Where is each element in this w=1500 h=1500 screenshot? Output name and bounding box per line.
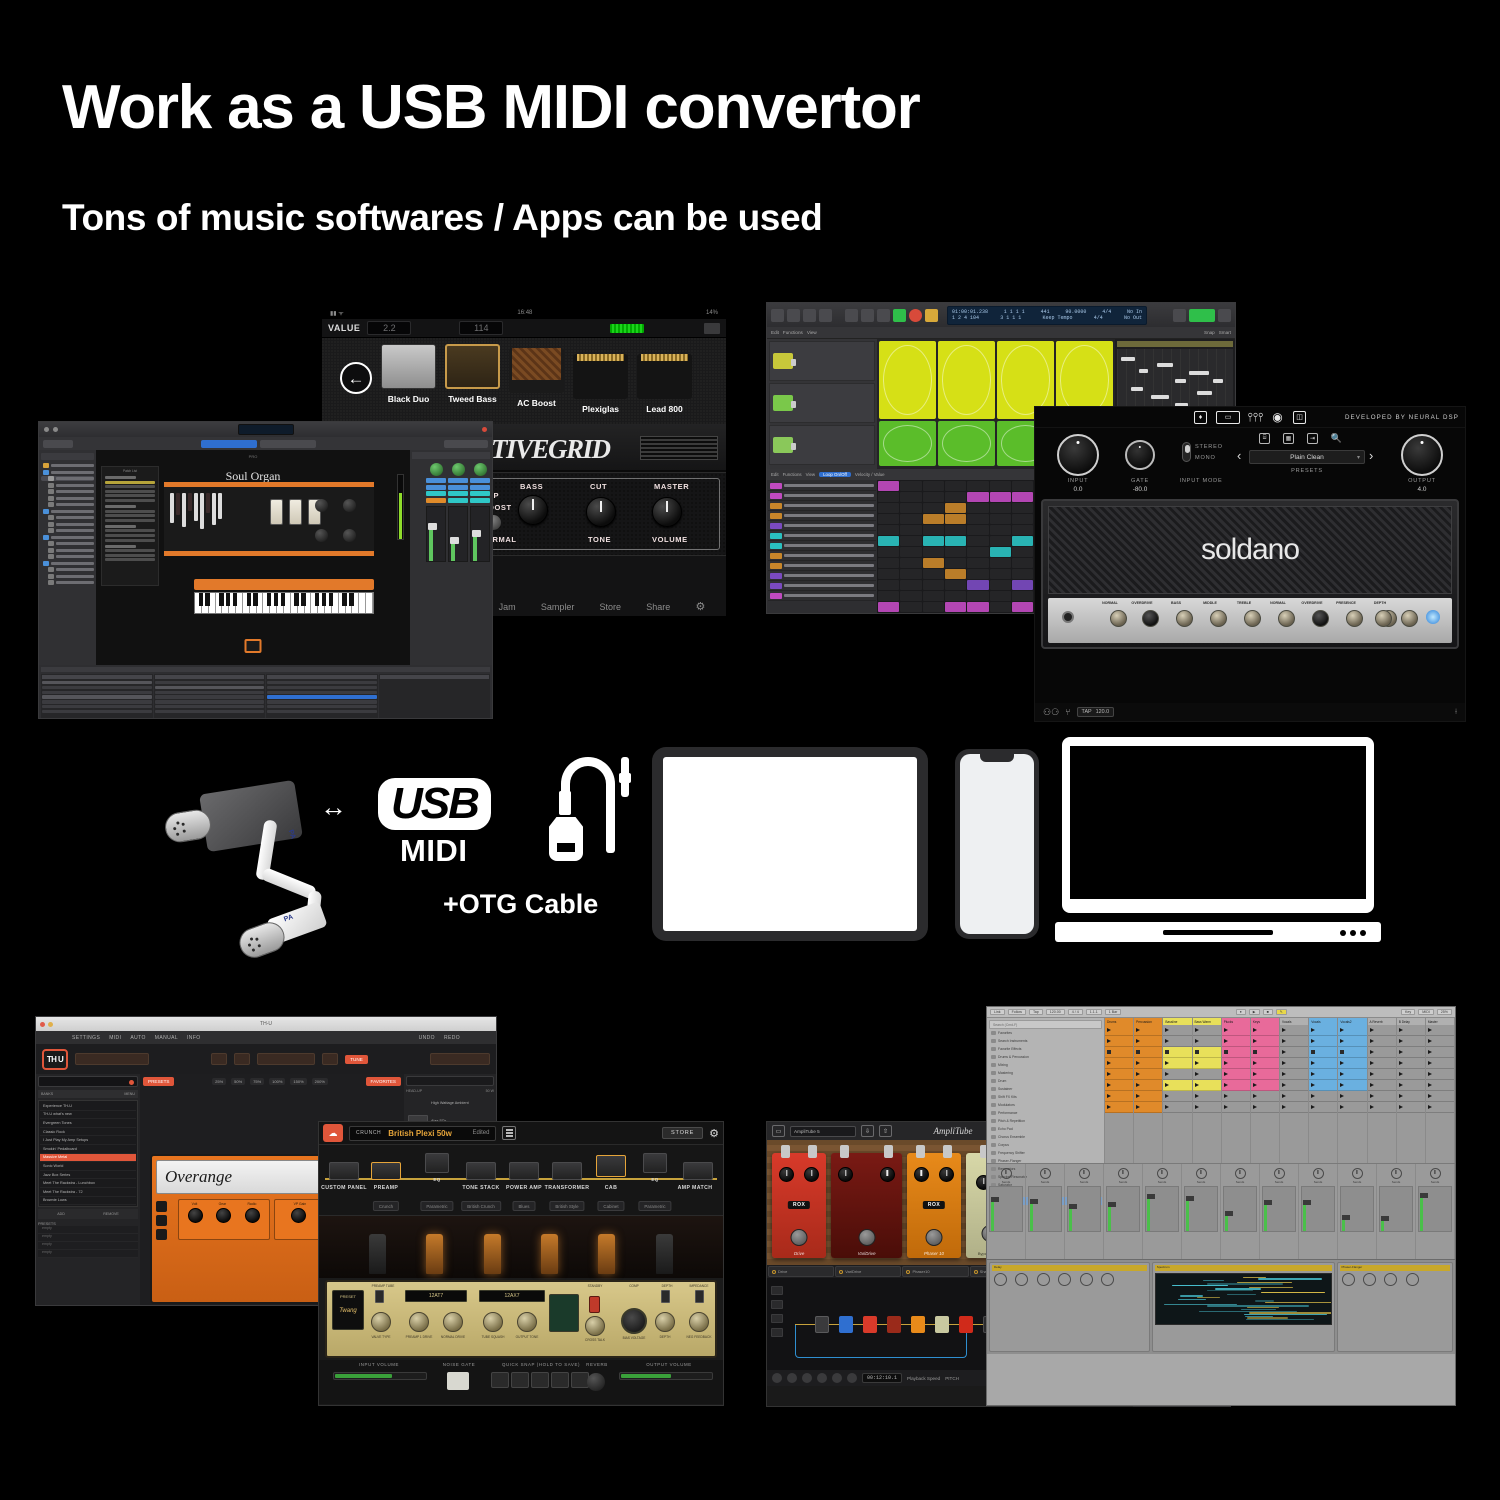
track-header[interactable]: Drums xyxy=(1105,1018,1133,1025)
channel-strip-toggle[interactable] xyxy=(444,440,488,448)
input-volume-slider[interactable] xyxy=(333,1372,427,1380)
seq-step[interactable] xyxy=(900,558,921,568)
browser-section[interactable]: Search Instruments xyxy=(989,1037,1102,1045)
clip-slot-filled[interactable] xyxy=(1105,1058,1133,1069)
seq-step[interactable] xyxy=(1012,602,1033,612)
library-toggle[interactable] xyxy=(43,440,73,448)
settings-icon[interactable] xyxy=(704,323,720,334)
channel-strip[interactable] xyxy=(426,461,446,562)
folder-icon[interactable]: ▭ xyxy=(772,1125,785,1137)
loop-toggle[interactable]: Loop On/Off xyxy=(819,472,851,477)
seq-step[interactable] xyxy=(945,536,966,546)
seq-step[interactable] xyxy=(1012,492,1033,502)
search-icon[interactable]: 🔍 xyxy=(1331,433,1342,444)
chain-node-eq-1[interactable] xyxy=(425,1153,449,1173)
preset-next-button[interactable]: › xyxy=(1369,448,1373,463)
input-jack-icon[interactable] xyxy=(1062,611,1074,623)
seq-step[interactable] xyxy=(1012,558,1033,568)
clip-slot-empty[interactable] xyxy=(1280,1091,1308,1102)
loop-icon[interactable] xyxy=(847,1373,857,1383)
clip-slot-filled[interactable] xyxy=(1222,1069,1250,1080)
clip-slot-empty[interactable] xyxy=(1280,1102,1308,1113)
routing-node-tuner[interactable] xyxy=(839,1316,853,1333)
empty-slot[interactable]: empty xyxy=(38,1250,138,1258)
output-tone-knob[interactable] xyxy=(517,1312,537,1332)
clip-slot-filled[interactable] xyxy=(1251,1080,1279,1091)
amp-side-buttons[interactable] xyxy=(156,1201,174,1240)
device-phaser-flanger[interactable]: Phaser-Flanger xyxy=(1337,1262,1454,1352)
pedal-knob[interactable] xyxy=(939,1167,954,1182)
clip-slot-empty[interactable] xyxy=(1280,1025,1308,1036)
preset-list-item[interactable]: Meet The Rackstra - 72 xyxy=(40,1188,136,1197)
library-item[interactable] xyxy=(41,502,94,507)
seq-step[interactable] xyxy=(923,525,944,535)
clip-slot-empty[interactable] xyxy=(1397,1036,1425,1047)
seq-step[interactable] xyxy=(990,602,1011,612)
impedance-switch[interactable] xyxy=(695,1290,704,1303)
seq-step[interactable] xyxy=(878,514,899,524)
clip-slot-filled[interactable] xyxy=(1193,1047,1221,1058)
browser-column-main-library[interactable] xyxy=(41,674,153,719)
neg-feedback-knob[interactable] xyxy=(689,1312,709,1332)
session-track[interactable]: Vocals2 xyxy=(1338,1018,1367,1163)
seq-row[interactable] xyxy=(768,521,876,531)
clip-slot-empty[interactable] xyxy=(1368,1091,1396,1102)
switch-group[interactable] xyxy=(270,499,321,525)
vibrato-switch[interactable] xyxy=(289,499,302,525)
browser-row-selected[interactable] xyxy=(267,695,377,698)
seq-step[interactable] xyxy=(990,536,1011,546)
seq-step[interactable] xyxy=(900,503,921,513)
library-item-selected[interactable] xyxy=(41,476,94,481)
tuning-fork-icon[interactable]: ⑂ xyxy=(1065,707,1070,717)
pedal-drive[interactable]: ROX Drive xyxy=(772,1153,826,1258)
mixer-strip[interactable]: Sends xyxy=(1299,1164,1338,1259)
pedal-phaser10[interactable]: ROX Phaser 10 xyxy=(907,1153,961,1258)
save-icon[interactable]: ⇩ xyxy=(861,1125,874,1137)
clip-slot-filled[interactable] xyxy=(1338,1047,1366,1058)
preset-item[interactable] xyxy=(105,485,155,488)
clip-slot-empty[interactable] xyxy=(1163,1091,1191,1102)
seq-step[interactable] xyxy=(900,481,921,491)
track-header[interactable]: Vocals xyxy=(1309,1018,1337,1025)
clip-slot-empty[interactable] xyxy=(1309,1091,1337,1102)
seq-step[interactable] xyxy=(1012,569,1033,579)
clip-slot-empty[interactable] xyxy=(1426,1058,1454,1069)
output-slot[interactable] xyxy=(470,498,490,503)
device-knob[interactable] xyxy=(1080,1273,1093,1286)
seq-step[interactable] xyxy=(967,514,988,524)
browser-row[interactable] xyxy=(42,700,152,703)
device-knob[interactable] xyxy=(1342,1273,1355,1286)
routing-node-varidrive[interactable] xyxy=(887,1316,901,1333)
link-button[interactable]: Link xyxy=(990,1009,1005,1015)
tab-workspace[interactable] xyxy=(201,440,257,448)
seq-step[interactable] xyxy=(1012,514,1033,524)
rig-item[interactable]: High Wattage Ambient xyxy=(406,1095,494,1111)
clip-slot-empty[interactable] xyxy=(1251,1091,1279,1102)
tempo-follower-button[interactable]: Follow xyxy=(1008,1009,1026,1015)
amp-knob[interactable] xyxy=(291,1208,306,1223)
chain-sub-power-amp[interactable]: Blues xyxy=(513,1201,536,1211)
rewind-icon[interactable] xyxy=(845,309,858,322)
amp-card-black-duo[interactable]: Black Duo xyxy=(381,344,436,404)
tuner-icon[interactable]: ♦ xyxy=(1194,411,1207,424)
tone-controls-group[interactable]: VoltGearRadio xyxy=(178,1199,270,1240)
clip-slot-empty[interactable] xyxy=(1280,1036,1308,1047)
amp-knob[interactable] xyxy=(188,1208,203,1223)
mixer-strip[interactable]: Sends xyxy=(1221,1164,1260,1259)
browser-folder[interactable]: Corpus xyxy=(989,1141,1102,1149)
clip-slot-filled[interactable] xyxy=(1251,1036,1279,1047)
loop-cell[interactable] xyxy=(879,341,936,419)
amp-knob[interactable] xyxy=(216,1208,231,1223)
browser-row[interactable] xyxy=(155,695,265,698)
signature-field[interactable]: 4 / 4 xyxy=(1068,1009,1083,1015)
clip-slot-empty[interactable] xyxy=(1426,1080,1454,1091)
clip-slot-filled[interactable] xyxy=(1251,1025,1279,1036)
clip-slot-empty[interactable] xyxy=(1426,1091,1454,1102)
output-knob[interactable] xyxy=(1401,434,1443,476)
volume-fader[interactable] xyxy=(1418,1186,1452,1232)
treble-knob[interactable] xyxy=(1244,610,1261,627)
browser-column-notes[interactable] xyxy=(379,674,491,719)
chain-node-eq-2[interactable] xyxy=(643,1153,667,1173)
seq-step[interactable] xyxy=(945,481,966,491)
master-knob[interactable] xyxy=(652,497,682,527)
position-field[interactable]: 1.1.1 xyxy=(1086,1009,1102,1015)
import-icon[interactable]: ⇥ xyxy=(1307,433,1318,444)
clip-slot-empty[interactable] xyxy=(1397,1058,1425,1069)
browser-icon[interactable] xyxy=(819,309,832,322)
menu-view-seq[interactable]: View xyxy=(806,472,815,477)
favorites-tab[interactable]: FAVORITES xyxy=(366,1077,401,1086)
seq-row[interactable] xyxy=(768,541,876,551)
seq-step[interactable] xyxy=(1012,525,1033,535)
organ-knob[interactable] xyxy=(343,499,356,512)
track-header[interactable]: Bass Warm xyxy=(1193,1018,1221,1025)
standby-switch[interactable] xyxy=(1375,610,1392,627)
browser-row[interactable] xyxy=(155,710,265,713)
clip-slot-empty[interactable] xyxy=(1222,1102,1250,1113)
remove-button[interactable]: REMOVE xyxy=(103,1212,119,1216)
clip-slot-empty[interactable] xyxy=(1426,1069,1454,1080)
seq-step[interactable] xyxy=(945,514,966,524)
browser-row[interactable] xyxy=(42,681,152,684)
device-knob[interactable] xyxy=(1015,1273,1028,1286)
browser-row[interactable] xyxy=(155,691,265,694)
preset-item[interactable] xyxy=(105,534,155,537)
clip-slot-empty[interactable] xyxy=(1368,1102,1396,1113)
clip-slot-filled[interactable] xyxy=(1309,1036,1337,1047)
playback-speed-label[interactable]: Playback Speed xyxy=(907,1376,940,1381)
bias-voltage-knob[interactable] xyxy=(621,1308,647,1334)
chain-sub-cab[interactable]: Cabinet xyxy=(597,1201,624,1211)
power-switch[interactable] xyxy=(1401,610,1418,627)
chain-node-custom-panel[interactable] xyxy=(329,1162,359,1180)
clip-slot-empty[interactable] xyxy=(1280,1080,1308,1091)
session-track[interactable]: Bassline xyxy=(1163,1018,1192,1163)
clip-slot-empty[interactable] xyxy=(1193,1025,1221,1036)
seq-step[interactable] xyxy=(990,514,1011,524)
seq-step[interactable] xyxy=(878,525,899,535)
seq-step[interactable] xyxy=(878,492,899,502)
clip-slot-filled[interactable] xyxy=(1105,1025,1133,1036)
clip-slot-filled[interactable] xyxy=(1105,1047,1133,1058)
insert-slot[interactable] xyxy=(426,478,446,483)
browser-row[interactable] xyxy=(42,710,152,713)
clip-slot-filled[interactable] xyxy=(1251,1069,1279,1080)
browser-row[interactable] xyxy=(155,681,265,684)
bass-knob[interactable] xyxy=(1176,610,1193,627)
header-btn[interactable] xyxy=(211,1053,227,1065)
draw-mode-button[interactable]: ✎ xyxy=(1276,1009,1287,1015)
seq-row[interactable] xyxy=(768,531,876,541)
normal-drive-knob[interactable] xyxy=(443,1312,463,1332)
record-button[interactable]: ● xyxy=(1236,1009,1246,1015)
insert-slot[interactable] xyxy=(448,485,468,490)
pan-knob[interactable] xyxy=(1040,1168,1051,1179)
pedal-knob[interactable] xyxy=(914,1167,929,1182)
seq-row[interactable] xyxy=(768,511,876,521)
depth-knob[interactable] xyxy=(655,1312,675,1332)
volume-fader[interactable] xyxy=(1223,1186,1257,1232)
loop-cell[interactable] xyxy=(879,421,936,466)
mixer-strip[interactable]: Sends xyxy=(1143,1164,1182,1259)
eq-icon[interactable]: ⫯⫯⫯ xyxy=(1249,411,1262,424)
track-header[interactable]: Bassline xyxy=(1163,1018,1191,1025)
search-input[interactable] xyxy=(38,1076,138,1087)
track-row[interactable] xyxy=(769,383,875,423)
quick-help-icon[interactable] xyxy=(787,309,800,322)
header-btn[interactable] xyxy=(234,1053,250,1065)
preset-item[interactable] xyxy=(105,514,155,517)
browser-search-input[interactable]: Search (Cmd-F) xyxy=(989,1020,1102,1029)
clip-slot-filled[interactable] xyxy=(1338,1025,1366,1036)
slot-varidrive[interactable]: VariDrive xyxy=(835,1266,901,1277)
pedal-footswitch[interactable] xyxy=(791,1229,808,1246)
browser-row[interactable] xyxy=(42,695,152,698)
browser-folder[interactable]: Performance xyxy=(989,1109,1102,1117)
clip-slot-filled[interactable] xyxy=(1134,1091,1162,1102)
seq-row[interactable] xyxy=(768,591,876,601)
preset-item[interactable] xyxy=(105,539,155,542)
preset-item[interactable] xyxy=(105,494,155,497)
preset-item[interactable] xyxy=(105,510,155,513)
routing-node-input[interactable] xyxy=(815,1316,829,1333)
library-item[interactable] xyxy=(41,541,94,546)
preset-item-selected[interactable] xyxy=(105,481,155,484)
menu-settings[interactable]: SETTINGS xyxy=(72,1035,100,1041)
record-icon[interactable] xyxy=(482,427,487,432)
menu-label[interactable]: MENU xyxy=(124,1092,135,1096)
seq-step[interactable] xyxy=(967,547,988,557)
browser-folder[interactable]: Echo Pad xyxy=(989,1125,1102,1133)
preset-list-item[interactable]: I Just Play My Amp Setups xyxy=(40,1136,136,1145)
tab-sampler[interactable]: Sampler xyxy=(541,602,575,612)
cross-talk-knob[interactable] xyxy=(585,1316,605,1336)
input-knob[interactable] xyxy=(1057,434,1099,476)
preset-item[interactable] xyxy=(105,549,155,552)
cab-icon[interactable]: ▭ xyxy=(1216,411,1240,424)
preset-field[interactable]: CRUNCH British Plexi 50w Edited xyxy=(349,1126,496,1141)
clip-slot-filled[interactable] xyxy=(1105,1069,1133,1080)
clip-slot-empty[interactable] xyxy=(1368,1069,1396,1080)
seq-step[interactable] xyxy=(990,580,1011,590)
rotary-switch[interactable] xyxy=(270,499,283,525)
clip-slot-empty[interactable] xyxy=(1426,1036,1454,1047)
mixer-strip[interactable]: Sends xyxy=(1065,1164,1104,1259)
session-track[interactable]: Bass Warm xyxy=(1193,1018,1222,1163)
seq-step[interactable] xyxy=(900,569,921,579)
browser-row[interactable] xyxy=(155,705,265,708)
session-track[interactable]: Master xyxy=(1426,1018,1455,1163)
seq-step[interactable] xyxy=(923,602,944,612)
clip-slot-empty[interactable] xyxy=(1368,1080,1396,1091)
output-volume-slider[interactable] xyxy=(619,1372,713,1380)
clip-slot-empty[interactable] xyxy=(1338,1102,1366,1113)
store-button[interactable]: STORE xyxy=(662,1127,703,1139)
tap-tempo-control[interactable]: TAP 120.0 xyxy=(1077,707,1115,717)
chain-node-cab[interactable] xyxy=(596,1155,626,1177)
preset-list-item[interactable]: Evergreen Tones xyxy=(40,1119,136,1128)
seq-step[interactable] xyxy=(923,547,944,557)
menu-midi[interactable]: MIDI xyxy=(109,1035,121,1041)
seq-step[interactable] xyxy=(967,569,988,579)
seq-row[interactable] xyxy=(768,561,876,571)
keyboard-widget[interactable] xyxy=(194,579,374,615)
clip-slot-filled[interactable] xyxy=(1193,1058,1221,1069)
clip-slot-empty[interactable] xyxy=(1193,1036,1221,1047)
chain-node-tone-stack[interactable] xyxy=(466,1162,496,1180)
session-track[interactable]: B Delay xyxy=(1397,1018,1426,1163)
clip-slot-filled[interactable] xyxy=(1251,1058,1279,1069)
library-item[interactable] xyxy=(41,496,94,501)
back-button[interactable]: ← xyxy=(340,362,372,394)
seq-step[interactable] xyxy=(1012,503,1033,513)
clip-slot-empty[interactable] xyxy=(1397,1025,1425,1036)
clip-slot-empty[interactable] xyxy=(1280,1069,1308,1080)
seq-step[interactable] xyxy=(990,525,1011,535)
tube-squash-knob[interactable] xyxy=(483,1312,503,1332)
seq-step[interactable] xyxy=(923,558,944,568)
menu-undo[interactable]: UNDO xyxy=(419,1035,435,1041)
mixer-strip[interactable]: Sends xyxy=(1026,1164,1065,1259)
clip-slot-filled[interactable] xyxy=(1251,1047,1279,1058)
normal-knob[interactable] xyxy=(1110,610,1127,627)
clip-slot-empty[interactable] xyxy=(1397,1047,1425,1058)
seq-step[interactable] xyxy=(990,558,1011,568)
seq-step[interactable] xyxy=(945,525,966,535)
zoom-200[interactable]: 200% xyxy=(312,1078,328,1085)
seq-step[interactable] xyxy=(878,569,899,579)
track-row[interactable] xyxy=(769,341,875,381)
menu-functions-seq[interactable]: Functions xyxy=(783,472,802,477)
mixer-icon[interactable] xyxy=(1218,309,1231,322)
tempo-field[interactable]: 120.00 xyxy=(1046,1009,1065,1015)
pan-knob[interactable] xyxy=(1313,1168,1324,1179)
library-item[interactable] xyxy=(41,483,94,488)
session-track[interactable]: A Reverb xyxy=(1368,1018,1397,1163)
browser-row[interactable] xyxy=(42,691,152,694)
pedal-footswitch[interactable] xyxy=(926,1229,943,1246)
menu-manual[interactable]: MANUAL xyxy=(155,1035,178,1041)
send-slot[interactable] xyxy=(448,491,468,496)
seq-step[interactable] xyxy=(878,602,899,612)
volume-fader[interactable] xyxy=(1067,1186,1101,1232)
gate-knob[interactable] xyxy=(1125,440,1155,470)
seq-step[interactable] xyxy=(990,547,1011,557)
library-group[interactable] xyxy=(41,463,94,468)
inspector-icon[interactable] xyxy=(771,309,784,322)
chain-node-transformer[interactable] xyxy=(552,1162,582,1180)
preset-item[interactable] xyxy=(105,519,155,522)
mixer-strip[interactable]: Sends xyxy=(987,1164,1026,1259)
library-item[interactable] xyxy=(41,548,94,553)
cycle-icon[interactable] xyxy=(925,309,938,322)
mixer-strip[interactable]: Sends xyxy=(1182,1164,1221,1259)
grid-icon[interactable]: ▦ xyxy=(1283,433,1294,444)
chain-node-power-amp[interactable] xyxy=(509,1162,539,1180)
clip-slot-filled[interactable] xyxy=(1338,1080,1366,1091)
browser-row[interactable] xyxy=(267,710,377,713)
preset-list[interactable]: Patch List xyxy=(101,466,159,586)
device-knob[interactable] xyxy=(1406,1273,1419,1286)
session-track[interactable]: Drums xyxy=(1105,1018,1134,1163)
menu-redo[interactable]: REDO xyxy=(444,1035,460,1041)
seq-step[interactable] xyxy=(878,580,899,590)
mixer-strip[interactable]: Sends xyxy=(1377,1164,1416,1259)
send-slot[interactable] xyxy=(470,491,490,496)
clip-slot-empty[interactable] xyxy=(1280,1058,1308,1069)
seq-step[interactable] xyxy=(945,503,966,513)
midi-button[interactable]: MIDI xyxy=(1418,1009,1434,1015)
seq-step[interactable] xyxy=(878,591,899,601)
loop-cell[interactable] xyxy=(938,421,995,466)
clip-slot-empty[interactable] xyxy=(1193,1102,1221,1113)
clip-slot-empty[interactable] xyxy=(1397,1069,1425,1080)
seq-step[interactable] xyxy=(900,492,921,502)
chain-node-amp-match[interactable] xyxy=(683,1162,713,1180)
clip-slot-filled[interactable] xyxy=(1163,1058,1191,1069)
empty-slot[interactable]: empty xyxy=(38,1234,138,1242)
preset-list-item[interactable]: Massive Metal xyxy=(40,1154,136,1163)
output-slot[interactable] xyxy=(426,498,446,503)
track-header[interactable]: Vocals xyxy=(1280,1018,1308,1025)
tube-display-1[interactable]: 12AT7 xyxy=(405,1290,467,1302)
piano-keys[interactable] xyxy=(194,592,374,614)
pedal-knob[interactable] xyxy=(804,1167,819,1182)
preset-list[interactable]: Experience TH-UTH-U what's newEvergreen … xyxy=(38,1100,138,1207)
routing-split-icon[interactable] xyxy=(771,1300,783,1309)
seq-step[interactable] xyxy=(900,536,921,546)
loop-length-field[interactable]: 1 Bar xyxy=(1105,1009,1122,1015)
overdrive-master-knob[interactable] xyxy=(1312,610,1329,627)
empty-slot[interactable]: empty xyxy=(38,1242,138,1250)
velocity-value-label[interactable]: Velocity / Value xyxy=(855,472,885,477)
browser-section[interactable]: Mixing xyxy=(989,1061,1102,1069)
chain-sub-eq-1[interactable]: Parametric xyxy=(420,1201,453,1211)
tab-assignments[interactable] xyxy=(260,440,316,448)
volume-fader[interactable] xyxy=(1145,1186,1179,1232)
track-header[interactable]: B Delay xyxy=(1397,1018,1425,1025)
pan-knob[interactable] xyxy=(1352,1168,1363,1179)
seq-step[interactable] xyxy=(990,503,1011,513)
seq-step[interactable] xyxy=(967,580,988,590)
seq-step[interactable] xyxy=(1012,547,1033,557)
output-field[interactable] xyxy=(430,1053,490,1065)
tube-display-2[interactable]: 12AX7 xyxy=(479,1290,545,1302)
